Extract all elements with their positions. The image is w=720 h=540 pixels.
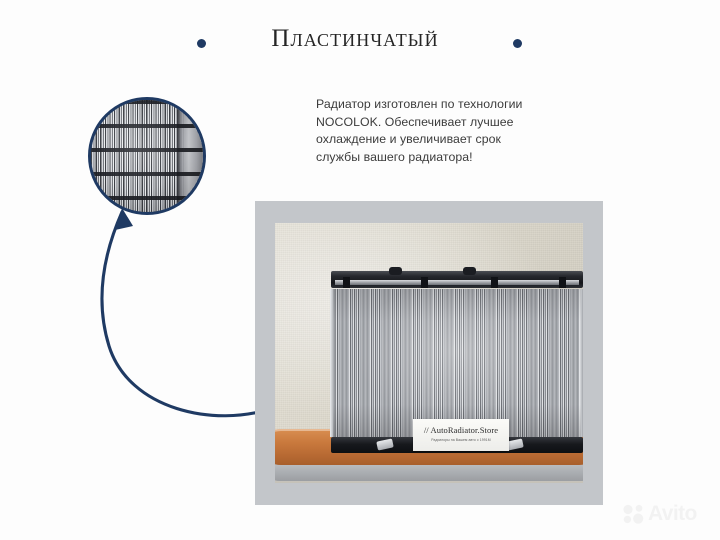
radiator-clip xyxy=(343,277,350,288)
radiator-core-fins xyxy=(333,289,581,437)
radiator-clip xyxy=(491,277,498,288)
page-title: Пластинчатый xyxy=(250,24,460,54)
store-card-title: // AutoRadiator.Store xyxy=(413,425,509,435)
product-photo-frame: // AutoRadiator.Store Радиаторы на Вашем… xyxy=(255,201,603,505)
radiator-fitting xyxy=(376,438,394,450)
radiator-clip xyxy=(421,277,428,288)
radiator-core-edge xyxy=(579,289,583,437)
decorative-dot-left-icon xyxy=(197,39,206,48)
body-paragraph: Радиатор изготовлен по технологии NOCOLO… xyxy=(316,96,548,166)
avito-watermark: Avito xyxy=(623,503,697,524)
radiator-clip xyxy=(559,277,566,288)
product-photo: // AutoRadiator.Store Радиаторы на Вашем… xyxy=(275,223,583,483)
avito-logo-icon xyxy=(623,504,645,524)
store-card-subtitle: Радиаторы на Вашем авто с 1991М xyxy=(415,438,506,442)
store-card: // AutoRadiator.Store Радиаторы на Вашем… xyxy=(413,419,509,451)
radiator-tank-boss xyxy=(463,267,476,275)
radiator-top-tank xyxy=(331,271,583,288)
radiator-core-edge xyxy=(330,289,335,437)
radiator-top-rail xyxy=(335,280,579,285)
radiator-tank-boss xyxy=(389,267,402,275)
curved-arrow-icon xyxy=(95,196,280,421)
decorative-dot-right-icon xyxy=(513,39,522,48)
avito-wordmark: Avito xyxy=(648,503,697,524)
slide-canvas: Пластинчатый Радиатор изготовлен по техн… xyxy=(0,0,720,540)
